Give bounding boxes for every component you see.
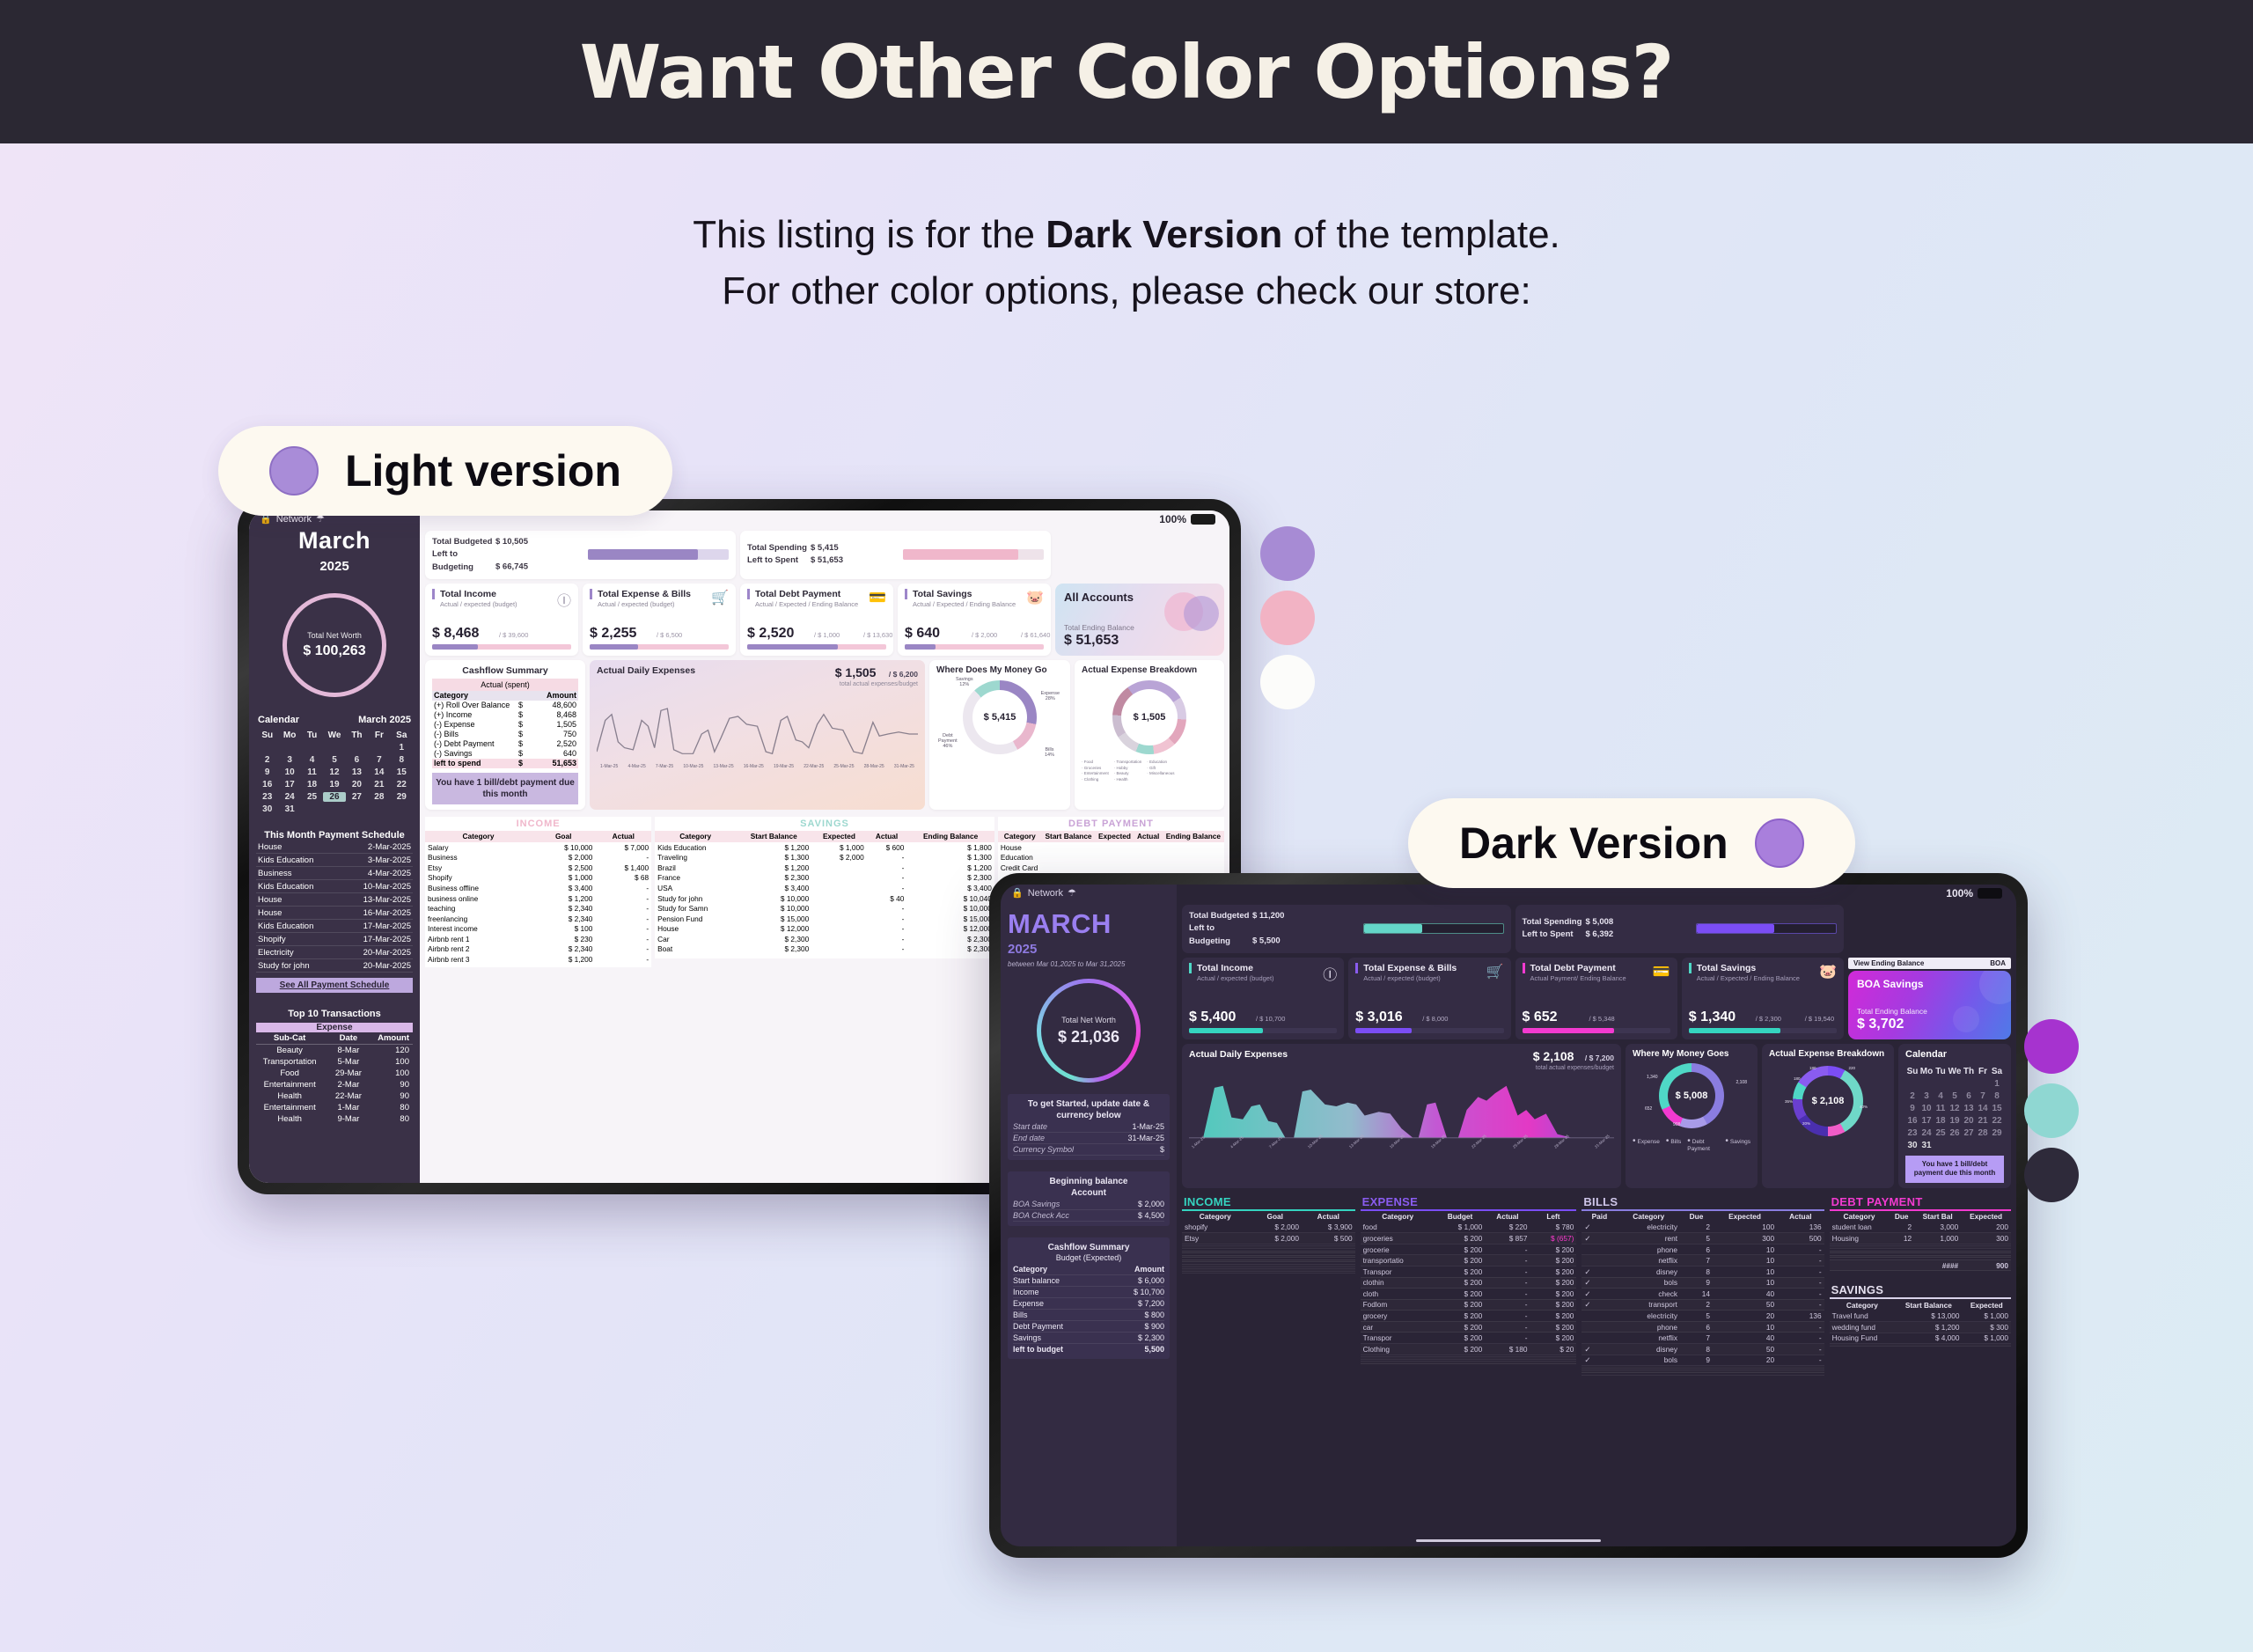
table-row[interactable]: Traveling$ 1,300$ 2,000-$ 1,300 — [655, 852, 994, 863]
light-sidebar: 🔒 Network ☂ March 2025 Total Net Worth $… — [249, 510, 420, 1183]
table-row[interactable]: Kids Education$ 1,200$ 1,000$ 600$ 1,800 — [655, 842, 994, 853]
calendar-day[interactable]: 27 — [1962, 1128, 1976, 1138]
table-cell: 10 — [1713, 1255, 1777, 1267]
calendar-dow: Tu — [301, 731, 323, 740]
table-row[interactable]: Airbnb rent 2$ 2,340- — [425, 944, 651, 955]
table-cell: grocery — [1361, 1311, 1435, 1322]
table-row[interactable]: Housing121,000300 — [1830, 1233, 2011, 1245]
table-cell-empty — [1963, 1344, 2011, 1347]
table-cell: ✓ — [1582, 1266, 1617, 1277]
calendar-day[interactable]: 4 — [301, 755, 323, 765]
calendar-day[interactable]: 31 — [1919, 1141, 1934, 1150]
table-row[interactable]: netflix710- — [1582, 1255, 1824, 1267]
calendar-day[interactable]: 4 — [1934, 1091, 1948, 1101]
calendar-day[interactable]: 31 — [278, 804, 300, 814]
table-row[interactable]: cloth$ 200-$ 200 — [1361, 1289, 1577, 1300]
table-cell: teaching — [425, 903, 532, 914]
calendar-day[interactable]: 9 — [256, 767, 278, 777]
kpi-progress — [905, 644, 1044, 650]
calendar-day[interactable]: 7 — [368, 755, 390, 765]
table-cell: $ 2,000 — [1248, 1222, 1302, 1233]
table-row[interactable]: France$ 2,300-$ 2,300 — [655, 873, 994, 884]
table-cell-empty — [595, 966, 651, 967]
cashflow-name: (+) Income — [434, 710, 518, 719]
top10-cell: Entertainment — [256, 1080, 323, 1090]
schedule-row[interactable]: Kids Education10-Mar-2025 — [256, 880, 413, 893]
top10-cell: 100 — [374, 1057, 414, 1067]
dark-cashflow-name: Bills — [1013, 1311, 1028, 1319]
light-daily-chart-svg — [597, 691, 918, 760]
kpi-title: Total Expense & Bills — [590, 589, 729, 599]
calendar-day[interactable]: 1 — [1990, 1079, 2004, 1089]
dark-money-go-center: $ 5,008 — [1676, 1090, 1708, 1101]
schedule-date: 20-Mar-2025 — [363, 961, 411, 971]
table-cell: $ 200 — [1435, 1233, 1486, 1245]
table-row[interactable]: transportatio$ 200-$ 200 — [1361, 1255, 1577, 1267]
top10-row: Sub-CatDateAmount — [256, 1032, 413, 1045]
calendar-blank — [1976, 1079, 1990, 1089]
calendar-day[interactable]: 26 — [1948, 1128, 1962, 1138]
dark-cashflow-panel: Cashflow Summary Budget (Expected) Categ… — [1008, 1237, 1170, 1359]
kpi-of-primary: / $ 8,000 — [1422, 1015, 1448, 1023]
calendar-day[interactable]: 2 — [1905, 1091, 1919, 1101]
calendar-day[interactable]: 30 — [256, 804, 278, 814]
kpi-subtitle: Actual / expected (budget) — [432, 600, 571, 608]
kpi-amount: $ 5,400 — [1189, 1010, 1236, 1025]
swatch-light-2[interactable] — [1260, 591, 1315, 645]
calendar-day[interactable]: 1 — [391, 743, 413, 753]
light-schedule-title: This Month Payment Schedule — [256, 830, 413, 841]
beginning-balance-value: $ 2,000 — [1138, 1200, 1164, 1208]
table-cell: $ 1,200 — [1895, 1322, 1962, 1333]
dark-money-go-legend: ExpenseBillsDebt PaymentSavings — [1633, 1136, 1750, 1152]
table-row[interactable]: shopify$ 2,000$ 3,900 — [1182, 1222, 1355, 1233]
kpi-amount: $ 640 — [905, 626, 940, 642]
piggy-icon: 🐷 — [1819, 963, 1837, 980]
calendar-day[interactable]: 12 — [323, 767, 345, 777]
cf-total-amount: 51,653 — [531, 759, 576, 767]
table-header-cell: Actual — [867, 831, 907, 842]
table-cell: - — [595, 954, 651, 965]
table-cell — [1042, 863, 1096, 873]
table-row[interactable]: teaching$ 2,340- — [425, 903, 651, 914]
calendar-day[interactable]: 15 — [391, 767, 413, 777]
table-row[interactable]: Airbnb rent 1$ 230- — [425, 934, 651, 944]
dark-sidebar: 🔒 Network ☂ MARCH 2025 between Mar 01,20… — [1001, 885, 1177, 1546]
table-row[interactable]: ✓rent5300500 — [1582, 1233, 1824, 1245]
kpi-of-secondary: / $ 13,630 — [863, 631, 892, 639]
table-row[interactable]: ✓check1440- — [1582, 1289, 1824, 1300]
get-started-row[interactable]: End date31-Mar-25 — [1013, 1133, 1164, 1144]
table-row[interactable]: groceries$ 200$ 857$ (657) — [1361, 1233, 1577, 1245]
dark-cashflow-rows: Start balance$ 6,000Income$ 10,700Expens… — [1013, 1275, 1164, 1344]
calendar-dow: Th — [1962, 1067, 1976, 1076]
table-cell — [811, 883, 866, 893]
calendar-day[interactable]: 24 — [278, 792, 300, 802]
table-row[interactable]: Interest income$ 100- — [425, 924, 651, 935]
table-header-cell: Ending Balance — [1163, 831, 1224, 842]
calendar-day[interactable]: 5 — [1948, 1091, 1962, 1101]
calendar-day[interactable]: 3 — [1919, 1091, 1934, 1101]
table-row[interactable]: car$ 200-$ 200 — [1361, 1321, 1577, 1333]
calendar-day[interactable]: 21 — [368, 780, 390, 789]
table-row[interactable]: Education — [998, 852, 1224, 863]
table-row[interactable]: USA$ 3,400-$ 3,400 — [655, 883, 994, 893]
table-cell: - — [1485, 1299, 1530, 1311]
light-money-go-center: $ 5,415 — [984, 712, 1016, 723]
table-header-cell: Actual — [1485, 1211, 1530, 1222]
calendar-day[interactable]: 8 — [391, 755, 413, 765]
table-cell: $ 10,040 — [906, 893, 994, 904]
calendar-day[interactable]: 12 — [1948, 1104, 1962, 1113]
table-cell-empty — [1582, 1373, 1617, 1376]
table-cell: 3,000 — [1914, 1222, 1961, 1233]
beginning-balance-key: BOA Savings — [1013, 1200, 1060, 1208]
cf-total-label: left to spend — [434, 759, 518, 767]
light-top10-title: Top 10 Transactions — [256, 1009, 413, 1019]
money-go-legend-item: Bills — [1666, 1136, 1681, 1152]
calendar-day[interactable]: 29 — [1990, 1128, 2004, 1138]
table-row[interactable]: Brazil$ 1,200-$ 1,200 — [655, 863, 994, 873]
calendar-day[interactable]: 10 — [1919, 1104, 1934, 1113]
table-cell: - — [1485, 1244, 1530, 1255]
battery-icon — [1191, 514, 1215, 525]
kpi-progress — [1689, 1028, 1837, 1033]
table-row[interactable]: ✓bols920- — [1582, 1355, 1824, 1366]
calendar-day[interactable]: 21 — [1976, 1116, 1990, 1126]
table-header-cell: Start Bal — [1914, 1211, 1961, 1222]
table-cell: - — [1485, 1255, 1530, 1267]
table-row[interactable]: electricity520136 — [1582, 1311, 1824, 1322]
calendar-day[interactable]: 28 — [368, 792, 390, 802]
light-cashflow-subtitle: Actual (spent) — [432, 679, 578, 691]
top10-cell: 120 — [374, 1046, 414, 1055]
table-row[interactable]: ✓disney850- — [1582, 1344, 1824, 1355]
calendar-day[interactable]: 8 — [1990, 1091, 2004, 1101]
schedule-row[interactable]: House2-Mar-2025 — [256, 841, 413, 854]
expense-legend-item: · Beauty — [1114, 771, 1142, 777]
dark-cf-hd-amount: Amount — [1134, 1265, 1164, 1274]
kpi-progress-fill — [590, 644, 638, 650]
table-row[interactable]: Car$ 2,300-$ 2,300 — [655, 934, 994, 944]
table-cell: $ 15,000 — [736, 914, 811, 924]
swatch-light-1[interactable] — [1260, 526, 1315, 581]
expense-legend-item: · Clothing — [1082, 777, 1109, 783]
table-cell: wedding fund — [1830, 1322, 1896, 1333]
kpi-subtitle: Actual Payment/ Ending Balance — [1523, 974, 1670, 982]
cf-hd-amount: Amount — [531, 691, 576, 700]
table-row[interactable]: Business offline$ 3,400- — [425, 883, 651, 893]
get-started-row[interactable]: Start date1-Mar-25 — [1013, 1121, 1164, 1133]
table-row[interactable]: business online$ 1,200- — [425, 893, 651, 904]
table-header-cell: Actual — [1302, 1211, 1355, 1222]
val-left-to-budgeting: $ 66,745 — [495, 562, 528, 572]
calendar-day[interactable]: 6 — [346, 755, 368, 765]
table-cell: $ 1,200 — [906, 863, 994, 873]
calendar-day[interactable]: 22 — [1990, 1116, 2004, 1126]
schedule-row[interactable]: Kids Education17-Mar-2025 — [256, 920, 413, 933]
color-swatches-dark[interactable] — [2024, 1019, 2079, 1202]
subtitle-emphasis: Dark Version — [1046, 213, 1282, 256]
table-row[interactable]: ✓disney810- — [1582, 1266, 1824, 1277]
schedule-row[interactable]: Study for john20-Mar-2025 — [256, 959, 413, 973]
calendar-day[interactable]: 29 — [391, 792, 413, 802]
top10-cell: Transportation — [256, 1057, 323, 1067]
table-row[interactable]: food$ 1,000$ 220$ 780 — [1361, 1222, 1577, 1233]
calendar-dow: Mo — [1919, 1067, 1934, 1076]
swatch-dark-3[interactable] — [2024, 1148, 2079, 1202]
get-started-row[interactable]: Currency Symbol$ — [1013, 1144, 1164, 1156]
table-row[interactable]: wedding fund$ 1,200$ 300 — [1830, 1322, 2011, 1333]
light-calendar-grid[interactable]: SuMoTuWeThFrSa12345678910111213141516171… — [256, 731, 413, 814]
table-cell: $ 1,300 — [906, 852, 994, 863]
table-cell: $ 200 — [1435, 1255, 1486, 1267]
val-left-to-spent: $ 51,653 — [811, 555, 843, 565]
schedule-row[interactable]: Shopify17-Mar-2025 — [256, 933, 413, 946]
calendar-day[interactable]: 15 — [1990, 1104, 2004, 1113]
expense-legend-item: · Health — [1114, 777, 1142, 783]
calendar-day[interactable]: 19 — [1948, 1116, 1962, 1126]
table-row[interactable]: ✓transport250- — [1582, 1299, 1824, 1311]
calendar-day[interactable]: 23 — [256, 792, 278, 802]
calendar-day[interactable]: 24 — [1919, 1128, 1934, 1138]
table-cell: $ 2,300 — [906, 944, 994, 955]
light-account-card[interactable]: All Accounts Total Ending Balance $ 51,6… — [1055, 584, 1224, 656]
expense-legend-item: · Groceries — [1082, 766, 1109, 772]
swatch-dark-1[interactable] — [2024, 1019, 2079, 1074]
calendar-day[interactable]: 18 — [301, 780, 323, 789]
table-cell: Transpor — [1361, 1266, 1435, 1277]
dark-budget-progress — [1363, 923, 1504, 934]
dark-net-worth-label: Total Net Worth — [1061, 1016, 1116, 1024]
light-expense-breakdown-title: Actual Expense Breakdown — [1082, 665, 1217, 675]
table-row[interactable]: grocerie$ 200-$ 200 — [1361, 1244, 1577, 1255]
home-indicator[interactable] — [1416, 1539, 1601, 1542]
table-row[interactable]: Boat$ 2,300-$ 2,300 — [655, 944, 994, 955]
calendar-day[interactable]: 11 — [1934, 1104, 1948, 1113]
dark-account-tabs[interactable]: View Ending Balance BOA — [1848, 958, 2011, 969]
table-cell-empty — [1530, 1362, 1577, 1364]
table-cell-empty — [1713, 1373, 1777, 1376]
table-row[interactable]: House$ 12,000-$ 12,000 — [655, 924, 994, 935]
schedule-row[interactable]: Electricity20-Mar-2025 — [256, 946, 413, 959]
data-table: CategoryGoalActualshopify$ 2,000$ 3,900E… — [1182, 1211, 1355, 1274]
calendar-day[interactable]: 18 — [1934, 1116, 1948, 1126]
table-row[interactable]: ✓electricity2100136 — [1582, 1222, 1824, 1233]
table-row[interactable]: Shopify$ 1,000$ 68 — [425, 873, 651, 884]
table-row[interactable]: ✓bols910- — [1582, 1277, 1824, 1289]
table-cell: $ 230 — [532, 934, 595, 944]
table-row[interactable]: phone610- — [1582, 1244, 1824, 1255]
table-row[interactable]: netflix740- — [1582, 1333, 1824, 1344]
table-cell: - — [867, 873, 907, 884]
calendar-day[interactable]: 25 — [1934, 1128, 1948, 1138]
calendar-day[interactable]: 17 — [278, 780, 300, 789]
table-cell-empty — [1302, 1271, 1355, 1274]
table-row[interactable]: phone610- — [1582, 1321, 1824, 1333]
calendar-day[interactable]: 26 — [323, 792, 345, 802]
table-row[interactable]: Salary$ 10,000$ 7,000 — [425, 842, 651, 853]
kpi-progress — [747, 644, 886, 650]
calendar-day[interactable]: 25 — [301, 792, 323, 802]
expense-legend-col: · Transportation· Hobby· Beauty· Health — [1114, 760, 1142, 783]
calendar-day[interactable]: 16 — [256, 780, 278, 789]
dollar-circle-icon: Ⓘ — [1323, 963, 1337, 984]
light-year-label: 2025 — [256, 559, 413, 574]
swatch-dark-2[interactable] — [2024, 1083, 2079, 1138]
dark-get-started-rows[interactable]: Start date1-Mar-25End date31-Mar-25Curre… — [1013, 1121, 1164, 1156]
calendar-day[interactable]: 19 — [323, 780, 345, 789]
table-row[interactable]: Study for john$ 10,000$ 40$ 10,040 — [655, 893, 994, 904]
light-version-dot — [269, 446, 319, 496]
calendar-day[interactable]: 13 — [346, 767, 368, 777]
table-cell: ✓ — [1582, 1355, 1617, 1366]
table-row[interactable]: Pension Fund$ 15,000-$ 15,000 — [655, 914, 994, 924]
kpi-progress — [1189, 1028, 1337, 1033]
calendar-day[interactable]: 9 — [1905, 1104, 1919, 1113]
table-cell: - — [1777, 1266, 1824, 1277]
calendar-day[interactable]: 30 — [1905, 1141, 1919, 1150]
dark-cf-hd-category: Category — [1013, 1265, 1047, 1274]
calendar-dow: Fr — [1976, 1067, 1990, 1076]
calendar-day[interactable]: 13 — [1962, 1104, 1976, 1113]
calendar-day[interactable]: 14 — [1976, 1104, 1990, 1113]
dark-tables-band: INCOME CategoryGoalActualshopify$ 2,000$… — [1182, 1195, 2011, 1376]
dark-daily-chart-xticks: 1-Mar-254-Mar-257-Mar-2510-Mar-2513-Mar-… — [1189, 1146, 1614, 1150]
table-cell: 7 — [1680, 1255, 1713, 1267]
calendar-day[interactable]: 28 — [1976, 1128, 1990, 1138]
calendar-day[interactable]: 2 — [256, 755, 278, 765]
dark-cashflow-name: Income — [1013, 1288, 1039, 1296]
table-cell: 200 — [1961, 1222, 2011, 1233]
table-row[interactable]: Clothing$ 200$ 180$ 20 — [1361, 1344, 1577, 1355]
calendar-day[interactable]: 3 — [278, 755, 300, 765]
swatch-light-3[interactable] — [1260, 655, 1315, 709]
calendar-day[interactable]: 5 — [323, 755, 345, 765]
light-expense-legend: · Food· Groceries· Entertainment· Clothi… — [1082, 760, 1217, 783]
table-cell-empty — [867, 957, 907, 958]
table-row[interactable]: Fodlom$ 200-$ 200 — [1361, 1299, 1577, 1311]
calendar-day[interactable]: 20 — [1962, 1116, 1976, 1126]
calendar-day[interactable]: 16 — [1905, 1116, 1919, 1126]
val-total-budgeted: $ 10,505 — [495, 537, 528, 547]
color-swatches-light[interactable] — [1260, 526, 1315, 709]
table-cell: $ 200 — [1530, 1333, 1577, 1344]
schedule-row[interactable]: Kids Education3-Mar-2025 — [256, 854, 413, 867]
table-cell: $ 2,000 — [532, 852, 595, 863]
dark-month-label: MARCH — [1008, 908, 1170, 940]
table-row-empty — [1182, 1271, 1355, 1274]
dark-account-tab-boa[interactable]: BOA — [1990, 959, 2006, 967]
light-daily-expenses-chart: Actual Daily Expenses $ 1,505 / $ 6,200 … — [590, 660, 925, 810]
table-row[interactable]: Travel fund$ 13,000$ 1,000 — [1830, 1311, 2011, 1321]
dark-account-tab-view[interactable]: View Ending Balance — [1853, 959, 1924, 967]
dark-battery-label: 100% — [1946, 887, 1973, 899]
calendar-dow: Mo — [278, 731, 300, 740]
table-cell: 2 — [1889, 1222, 1914, 1233]
dk-val-total-budgeted: $ 11,200 — [1252, 911, 1284, 921]
calendar-day[interactable]: 11 — [301, 767, 323, 777]
table-row[interactable]: Study for Samn$ 10,000-$ 10,000 — [655, 903, 994, 914]
calendar-day[interactable]: 10 — [278, 767, 300, 777]
table-cell: phone — [1617, 1321, 1680, 1333]
calendar-blank — [256, 743, 278, 753]
table-cell: France — [655, 873, 736, 884]
dark-spending-progress — [1696, 923, 1837, 934]
schedule-row[interactable]: House13-Mar-2025 — [256, 893, 413, 907]
table-row[interactable]: Etsy$ 2,500$ 1,400 — [425, 863, 651, 873]
kpi-title: Total Savings — [1689, 963, 1837, 973]
table-cell-empty — [1777, 1373, 1824, 1376]
kpi-progress-fill — [1689, 1028, 1780, 1033]
light-account-balance-label: Total Ending Balance — [1064, 623, 1134, 632]
calendar-day[interactable]: 7 — [1976, 1091, 1990, 1101]
dark-account-card[interactable]: BOA Savings Total Ending Balance $ 3,702 — [1848, 971, 2011, 1039]
get-started-key: Currency Symbol — [1013, 1145, 1074, 1154]
table-header-row: CategoryStart BalanceExpected — [1830, 1299, 2011, 1311]
kpi-progress-fill — [905, 644, 936, 650]
table-row[interactable]: Transpor$ 200-$ 200 — [1361, 1266, 1577, 1277]
schedule-row[interactable]: Business4-Mar-2025 — [256, 867, 413, 880]
table-cell: - — [1485, 1321, 1530, 1333]
schedule-row[interactable]: House16-Mar-2025 — [256, 907, 413, 920]
table-cell: 20 — [1713, 1355, 1777, 1366]
calendar-day[interactable]: 27 — [346, 792, 368, 802]
calendar-day[interactable]: 23 — [1905, 1128, 1919, 1138]
kpi-of-secondary: / $ 19,540 — [1805, 1015, 1834, 1023]
table-row[interactable]: Etsy$ 2,000$ 500 — [1182, 1233, 1355, 1245]
table-cell: Traveling — [655, 852, 736, 863]
dark-cashflow-name: Expense — [1013, 1299, 1044, 1308]
table-row[interactable]: grocery$ 200-$ 200 — [1361, 1311, 1577, 1322]
table-row[interactable]: student loan23,000200 — [1830, 1222, 2011, 1233]
calendar-blank — [323, 743, 345, 753]
table-row[interactable]: Business$ 2,000- — [425, 852, 651, 863]
calendar-day[interactable]: 20 — [346, 780, 368, 789]
dark-cashflow-amount: $ 900 — [1144, 1322, 1164, 1331]
table-row[interactable]: Housing Fund$ 4,000$ 1,000 — [1830, 1333, 2011, 1344]
schedule-name: Kids Education — [258, 855, 313, 865]
dark-cashflow-name: Savings — [1013, 1333, 1041, 1342]
dark-cashflow-title: Cashflow Summary — [1013, 1242, 1164, 1253]
table-row[interactable]: House — [998, 842, 1224, 853]
table-cell-empty — [1361, 1362, 1435, 1364]
table-header-cell: Category — [1361, 1211, 1435, 1222]
data-table: CategoryBudgetActualLeftfood$ 1,000$ 220… — [1361, 1211, 1577, 1365]
table-row[interactable]: Transpor$ 200-$ 200 — [1361, 1333, 1577, 1344]
table-header-row: CategoryBudgetActualLeft — [1361, 1211, 1577, 1222]
dark-calendar-grid[interactable]: SuMoTuWeThFrSa12345678910111213141516171… — [1905, 1067, 2004, 1150]
kpi-progress-fill — [1355, 1028, 1412, 1033]
calendar-day[interactable]: 6 — [1962, 1091, 1976, 1101]
table-row[interactable]: clothin$ 200-$ 200 — [1361, 1277, 1577, 1289]
dark-expense-donut: $ 2,108 — [1793, 1066, 1863, 1136]
table-cell: 6 — [1680, 1321, 1713, 1333]
dark-money-go-label-2: 2,108 — [1736, 1080, 1747, 1085]
table-cell: House — [998, 842, 1042, 853]
table-cell: - — [867, 944, 907, 955]
table-row[interactable]: freenlancing$ 2,340- — [425, 914, 651, 924]
calendar-day[interactable]: 22 — [391, 780, 413, 789]
table-header-cell: Category — [425, 831, 532, 842]
see-all-payment-schedule-link[interactable]: See All Payment Schedule — [256, 978, 413, 993]
table-row[interactable]: Credit Card — [998, 863, 1224, 873]
beginning-balance-key: BOA Check Acc — [1013, 1211, 1069, 1220]
calendar-day[interactable]: 17 — [1919, 1116, 1934, 1126]
table-row[interactable]: Airbnb rent 3$ 1,200- — [425, 954, 651, 965]
calendar-day[interactable]: 14 — [368, 767, 390, 777]
dark-summary-bars-row: Total Budgeted$ 11,200 Left to Budgeting… — [1182, 905, 2011, 953]
